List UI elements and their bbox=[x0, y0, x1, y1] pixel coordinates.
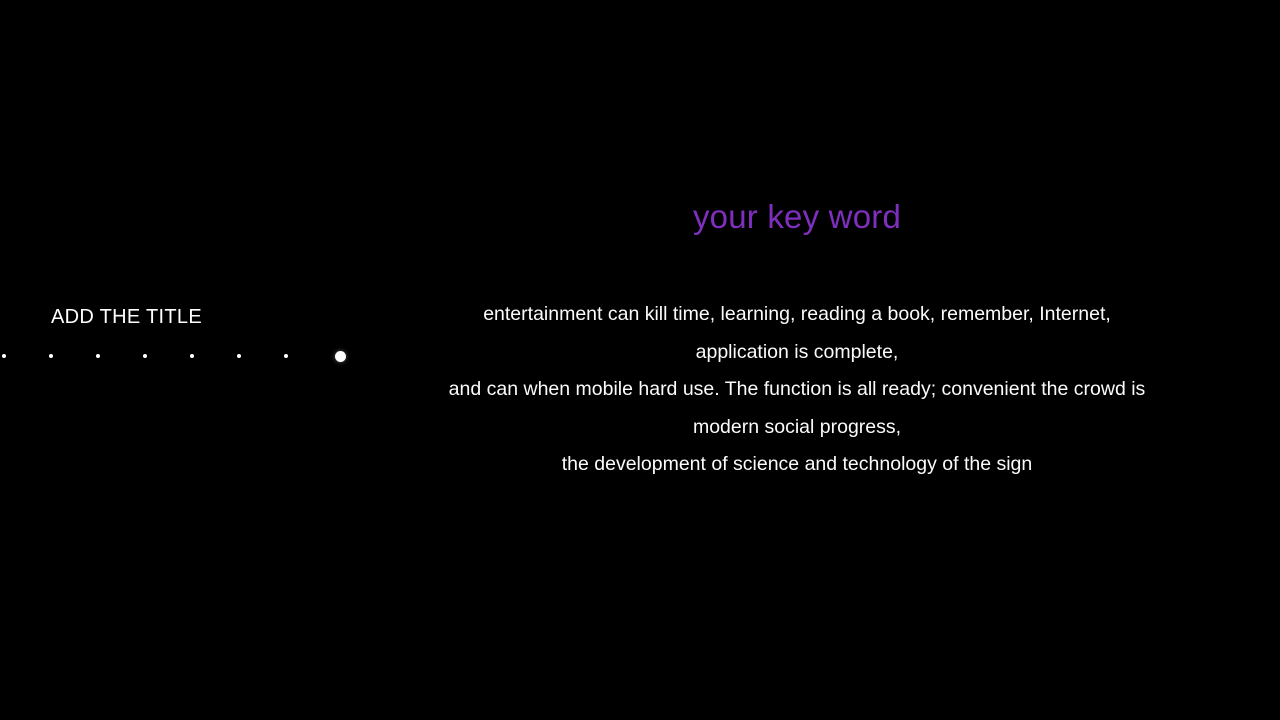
body-line: the development of science and technolog… bbox=[0, 446, 1280, 484]
body-line: application is complete, bbox=[0, 334, 1280, 372]
body-line: modern social progress, bbox=[0, 409, 1280, 447]
body-copy: entertainment can kill time, learning, r… bbox=[0, 296, 1280, 484]
page-title: your key word bbox=[0, 196, 1280, 238]
body-line: and can when mobile hard use. The functi… bbox=[0, 371, 1280, 409]
body-line: entertainment can kill time, learning, r… bbox=[0, 296, 1280, 334]
presentation-slide: your key word ADD THE TITLE entertainmen… bbox=[0, 0, 1280, 720]
